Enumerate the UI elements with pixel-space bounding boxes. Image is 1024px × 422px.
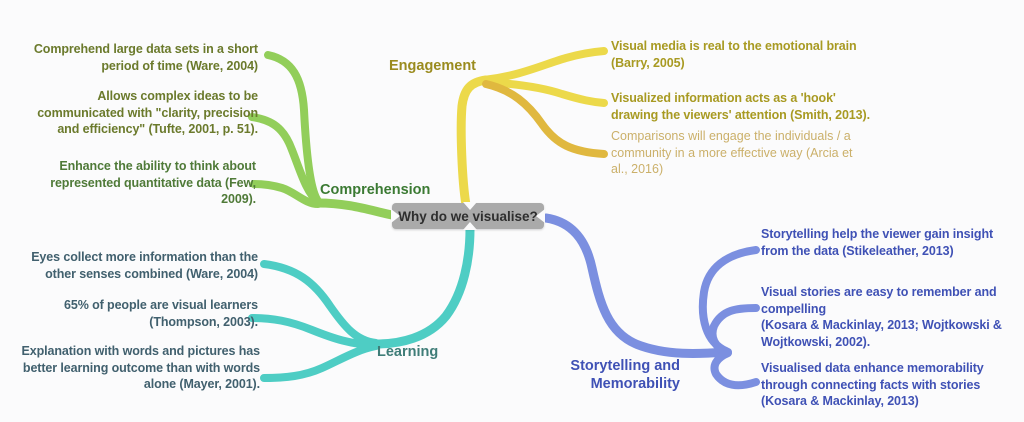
node-notch-right bbox=[536, 209, 545, 223]
leaf-comprehension-3[interactable]: Enhance the ability to think about repre… bbox=[18, 158, 256, 208]
leaf-comprehension-1[interactable]: Comprehend large data sets in a short pe… bbox=[22, 41, 258, 74]
leaf-engagement-1[interactable]: Visual media is real to the emotional br… bbox=[611, 38, 861, 71]
leaf-storytelling-2[interactable]: Visual stories are easy to remember and … bbox=[761, 284, 1011, 351]
leaf-learning-2[interactable]: 65% of people are visual learners (Thomp… bbox=[18, 297, 258, 330]
branch-label-storytelling[interactable]: Storytelling and Memorability bbox=[520, 357, 680, 393]
node-notch-top bbox=[463, 202, 477, 210]
leaf-learning-1[interactable]: Eyes collect more information than the o… bbox=[18, 249, 258, 282]
leaf-engagement-3[interactable]: Comparisons will engage the individuals … bbox=[611, 128, 867, 178]
node-notch-bottom bbox=[463, 222, 477, 230]
leaf-learning-3[interactable]: Explanation with words and pictures has … bbox=[18, 343, 260, 393]
leaf-storytelling-3[interactable]: Visualised data enhance memorability thr… bbox=[761, 360, 1001, 410]
leaf-storytelling-1[interactable]: Storytelling help the viewer gain insigh… bbox=[761, 226, 996, 259]
branch-label-engagement[interactable]: Engagement bbox=[389, 57, 519, 75]
leaf-comprehension-2[interactable]: Allows complex ideas to be communicated … bbox=[18, 88, 258, 138]
branch-label-comprehension[interactable]: Comprehension bbox=[320, 181, 460, 199]
center-node[interactable]: Why do we visualise? bbox=[392, 203, 544, 229]
node-notch-left bbox=[391, 209, 400, 223]
mindmap-canvas: Why do we visualise? Comprehension Engag… bbox=[0, 0, 1024, 422]
leaf-engagement-2[interactable]: Visualized information acts as a 'hook' … bbox=[611, 90, 873, 123]
branch-label-learning[interactable]: Learning bbox=[377, 343, 497, 361]
